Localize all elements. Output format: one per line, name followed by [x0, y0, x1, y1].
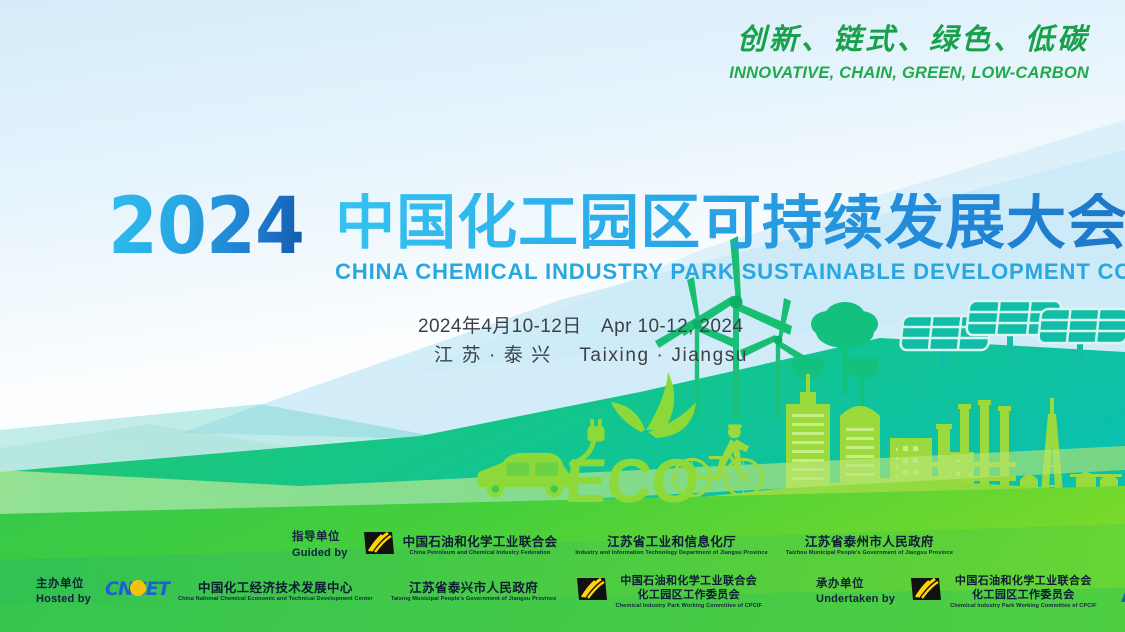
role-guided-cn: 指导单位	[292, 530, 348, 546]
org-cpcif-en: China Petroleum and Chemical Industry Fe…	[403, 550, 558, 557]
org-taizhou-gov-cn: 江苏省泰州市人民政府	[786, 534, 953, 550]
org-cpcif: 中国石油和化学工业联合会 China Petroleum and Chemica…	[362, 530, 558, 561]
org-taizhou-gov-en: Taizhou Municipal People's Government of…	[786, 550, 953, 557]
org-cpcif-park-committee-2: 中国石油和化学工业联合会 化工园区工作委员会 Chemical Industry…	[909, 574, 1097, 610]
sponsor-row-guided: 指导单位 Guided by 中国石油和化学工业联合会 China Petrol…	[292, 530, 971, 561]
org-cpcif-pc2-cn2: 化工园区工作委员会	[950, 588, 1097, 602]
org-cncet-cn: 中国化工经济技术发展中心	[178, 580, 373, 596]
org-jiangsu-miit-en: Industry and Information Technology Depa…	[575, 550, 767, 557]
cpcif-logo-icon-3	[909, 576, 943, 607]
org-cpcif-pc-cn: 中国石油和化学工业联合会	[616, 574, 763, 588]
org-cpcif-pc2-en: Chemical Industry Park Working Committee…	[950, 603, 1097, 610]
event-place: 江 苏 · 泰 兴 Taixing · Jiangsu	[434, 341, 748, 370]
event-date: 2024年4月10-12日 Apr 10-12, 2024	[418, 312, 748, 341]
org-taixing-gov-en: Taixing Municipal People's Government of…	[391, 596, 557, 603]
tedz-logo-icon	[1115, 574, 1125, 609]
org-taixing-gov: 江苏省泰兴市人民政府 Taixing Municipal People's Go…	[391, 580, 557, 604]
title-main: 中国化工园区可持续发展大会 CHINA CHEMICAL INDUSTRY PA…	[335, 193, 1125, 285]
title-block: 2024 中国化工园区可持续发展大会 CHINA CHEMICAL INDUST…	[108, 193, 1125, 285]
eco-wordmark: ECO	[566, 444, 696, 520]
sponsor-row-hosted: 主办单位 Hosted by CNCET 中国化工经济技术发展中心 China …	[36, 574, 1125, 610]
org-taizhou-gov: 江苏省泰州市人民政府 Taizhou Municipal People's Go…	[786, 534, 953, 558]
role-hosted-en: Hosted by	[36, 592, 91, 607]
org-cncet-en: China National Chemical Economic and Tec…	[178, 596, 373, 603]
org-cpcif-pc2-cn: 中国石油和化学工业联合会	[950, 574, 1097, 588]
org-cncet: CNCET 中国化工经济技术发展中心 China National Chemic…	[105, 578, 373, 605]
role-guided: 指导单位 Guided by	[292, 530, 348, 560]
org-jiangsu-miit-cn: 江苏省工业和信息化厅	[575, 534, 767, 550]
role-undertaken: 承办单位 Undertaken by	[816, 577, 895, 607]
tagline-block: 创新、链式、绿色、低碳 INNOVATIVE, CHAIN, GREEN, LO…	[729, 26, 1089, 82]
role-hosted: 主办单位 Hosted by	[36, 577, 91, 607]
cncet-logo-icon: CNCET	[105, 578, 171, 605]
sponsor-bar: 指导单位 Guided by 中国石油和化学工业联合会 China Petrol…	[0, 514, 1125, 632]
title-year: 2024	[108, 193, 304, 262]
tagline-cn: 创新、链式、绿色、低碳	[729, 26, 1089, 55]
org-cpcif-park-committee: 中国石油和化学工业联合会 化工园区工作委员会 Chemical Industry…	[575, 574, 763, 610]
org-jiangsu-miit: 江苏省工业和信息化厅 Industry and Information Tech…	[575, 534, 767, 558]
tagline-en: INNOVATIVE, CHAIN, GREEN, LOW-CARBON	[729, 65, 1089, 82]
conference-banner: 创新、链式、绿色、低碳 INNOVATIVE, CHAIN, GREEN, LO…	[0, 0, 1125, 632]
cpcif-logo-icon-2	[575, 576, 609, 607]
title-en: CHINA CHEMICAL INDUSTRY PARK SUSTAINABLE…	[335, 259, 1125, 285]
org-cpcif-cn: 中国石油和化学工业联合会	[403, 534, 558, 550]
org-cpcif-pc-en: Chemical Industry Park Working Committee…	[616, 603, 763, 610]
role-undertaken-cn: 承办单位	[816, 577, 895, 593]
role-undertaken-en: Undertaken by	[816, 592, 895, 607]
org-taixing-edz: 泰兴经济开发区 Taixing Economic Development Zon…	[1115, 574, 1125, 609]
role-hosted-cn: 主办单位	[36, 577, 91, 593]
org-taixing-gov-cn: 江苏省泰兴市人民政府	[391, 580, 557, 596]
cpcif-logo-icon	[362, 530, 396, 561]
role-guided-en: Guided by	[292, 546, 348, 561]
eco-text: ECO	[566, 447, 696, 516]
title-cn: 中国化工园区可持续发展大会	[335, 193, 1125, 253]
event-meta: 2024年4月10-12日 Apr 10-12, 2024 江 苏 · 泰 兴 …	[418, 312, 748, 371]
org-cpcif-pc-cn2: 化工园区工作委员会	[616, 588, 763, 602]
